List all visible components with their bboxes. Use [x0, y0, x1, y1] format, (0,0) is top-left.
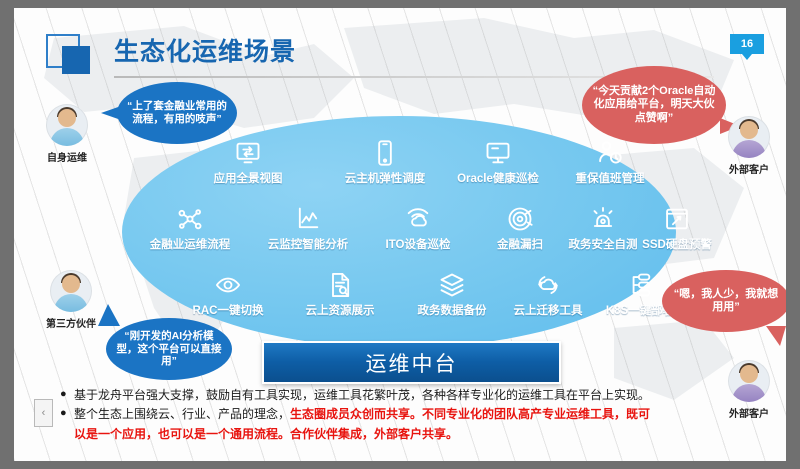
radar-disc-icon: [472, 202, 568, 236]
capability-label: 云上资源展示: [292, 304, 388, 318]
bullet-marker: ●: [60, 405, 74, 423]
capability-label: 金融漏扫: [472, 238, 568, 252]
document-search-icon: [292, 268, 388, 302]
capability-label: 重保值班管理: [562, 172, 658, 186]
window-frame-left: [0, 0, 14, 469]
eye-icon: [180, 268, 276, 302]
window-frame-bottom: [0, 461, 800, 469]
speech-bubble-self-ops: “上了套金融业常用的流程，有用的吱声”: [117, 82, 237, 144]
capability-item[interactable]: 云主机弹性调度: [337, 136, 433, 186]
capability-item[interactable]: ITO设备巡检: [370, 202, 466, 252]
bullet-item-1: ● 基于龙舟平台强大支撑，鼓励自有工具实现，运维工具花繁叶茂，各种各样专业化的运…: [60, 386, 772, 405]
window-frame-right: [786, 0, 800, 469]
avatar: [728, 116, 770, 158]
bullet-text-emphasis: 生态圈成员众创而共享。不同专业化的团队高产专业运维工具，既可: [290, 407, 650, 421]
capability-label: Oracle健康巡检: [450, 172, 546, 186]
bullet-item-2-continuation: 以是一个应用，也可以是一个通用流程。合作伙伴集成，外部客户共享。: [74, 425, 772, 444]
speech-bubble-partner: “刚开发的AI分析模型，这个平台可以直接用”: [106, 318, 232, 380]
speech-bubble-external-bottom: “嗯，我人少，我就想用用”: [662, 270, 786, 332]
capability-label: 云主机弹性调度: [337, 172, 433, 186]
monitor-icon: [450, 136, 546, 170]
capability-item[interactable]: 金融漏扫: [472, 202, 568, 252]
cloud-sync-icon: [500, 268, 596, 302]
persona-self-ops: 自身运维: [32, 104, 102, 164]
capability-item[interactable]: RAC一键切换: [180, 268, 276, 318]
capability-item[interactable]: 应用全景视图: [200, 136, 296, 186]
capability-item[interactable]: Oracle健康巡检: [450, 136, 546, 186]
bullet-text: 基于龙舟平台强大支撑，鼓励自有工具实现，运维工具花繁叶茂，各种各样专业化的运维工…: [74, 386, 772, 405]
window-frame-top: [0, 0, 800, 8]
capability-item[interactable]: 云监控智能分析: [260, 202, 356, 252]
page-number-badge: 16: [730, 34, 764, 54]
monitor-refresh-icon: [200, 136, 296, 170]
speech-bubble-text: “嗯，我人少，我就想用用”: [662, 288, 786, 315]
line-chart-icon: [260, 202, 356, 236]
capability-label: 云监控智能分析: [260, 238, 356, 252]
platform-banner: 运维中台: [262, 341, 561, 384]
capability-label: 金融业运维流程: [142, 238, 238, 252]
capability-label: 云上迁移工具: [500, 304, 596, 318]
capability-item[interactable]: 云上迁移工具: [500, 268, 596, 318]
bullet-text: 整个生态上围绕云、行业、产品的理念，生态圈成员众创而共享。不同专业化的团队高产专…: [74, 405, 772, 424]
speech-bubble-text: “刚开发的AI分析模型，这个平台可以直接用”: [106, 330, 232, 368]
avatar: [46, 104, 88, 146]
cloud-signal-icon: [370, 202, 466, 236]
capability-grid: 应用全景视图 云主机弹性调度 Oracle健康巡检 重保值班管理: [132, 136, 672, 348]
slide-content: 生态化运维场景 16 应用全景视图 云主机弹性调度: [14, 8, 786, 461]
avatar-body: [732, 140, 766, 158]
mobile-phone-icon: [337, 136, 433, 170]
capability-label: 应用全景视图: [200, 172, 296, 186]
capability-label: RAC一键切换: [180, 304, 276, 318]
capability-label: SSD硬盘预警: [629, 238, 725, 252]
capability-item[interactable]: 金融业运维流程: [142, 202, 238, 252]
persona-label: 第三方伙伴: [36, 315, 106, 330]
title-square-solid-icon: [62, 46, 90, 74]
bullet-list: ● 基于龙舟平台强大支撑，鼓励自有工具实现，运维工具花繁叶茂，各种各样专业化的运…: [60, 386, 772, 444]
avatar-body: [54, 294, 88, 312]
avatar-head: [740, 365, 758, 383]
page-title: 生态化运维场景: [114, 32, 296, 68]
speech-bubble-text: “今天贡献2个Oracle自动化应用给平台，明天大伙点赞啊”: [582, 85, 726, 125]
capability-label: ITO设备巡检: [370, 238, 466, 252]
persona-third-party-partner: 第三方伙伴: [36, 270, 106, 330]
bullet-marker: ●: [60, 386, 74, 404]
persona-label: 自身运维: [32, 149, 102, 164]
avatar-head: [58, 109, 76, 127]
bullet-item-2: ● 整个生态上围绕云、行业、产品的理念，生态圈成员众创而共享。不同专业化的团队高…: [60, 405, 772, 424]
capability-label: 政务数据备份: [404, 304, 500, 318]
speech-bubble-text: “上了套金融业常用的流程，有用的吱声”: [117, 100, 237, 126]
avatar-head: [62, 275, 80, 293]
capability-item[interactable]: 政务数据备份: [404, 268, 500, 318]
bullet-text-plain: 整个生态上围绕云、行业、产品的理念，: [74, 407, 290, 421]
persona-external-customer-top: 外部客户: [714, 116, 784, 176]
avatar-head: [740, 121, 758, 139]
network-nodes-icon: [142, 202, 238, 236]
persona-label: 外部客户: [714, 161, 784, 176]
layers-icon: [404, 268, 500, 302]
capability-item[interactable]: SSD硬盘预警: [629, 202, 725, 252]
avatar-body: [50, 128, 84, 146]
back-nav-button[interactable]: ‹: [34, 399, 53, 427]
bubble-tail: [766, 326, 786, 346]
bubble-tail: [101, 106, 121, 120]
speech-bubble-external-top: “今天贡献2个Oracle自动化应用给平台，明天大伙点赞啊”: [582, 66, 726, 144]
avatar: [50, 270, 92, 312]
capability-item[interactable]: 云上资源展示: [292, 268, 388, 318]
platform-banner-label: 运维中台: [366, 348, 458, 378]
slide-canvas: 生态化运维场景 16 应用全景视图 云主机弹性调度: [0, 0, 800, 469]
disk-check-icon: [629, 202, 725, 236]
